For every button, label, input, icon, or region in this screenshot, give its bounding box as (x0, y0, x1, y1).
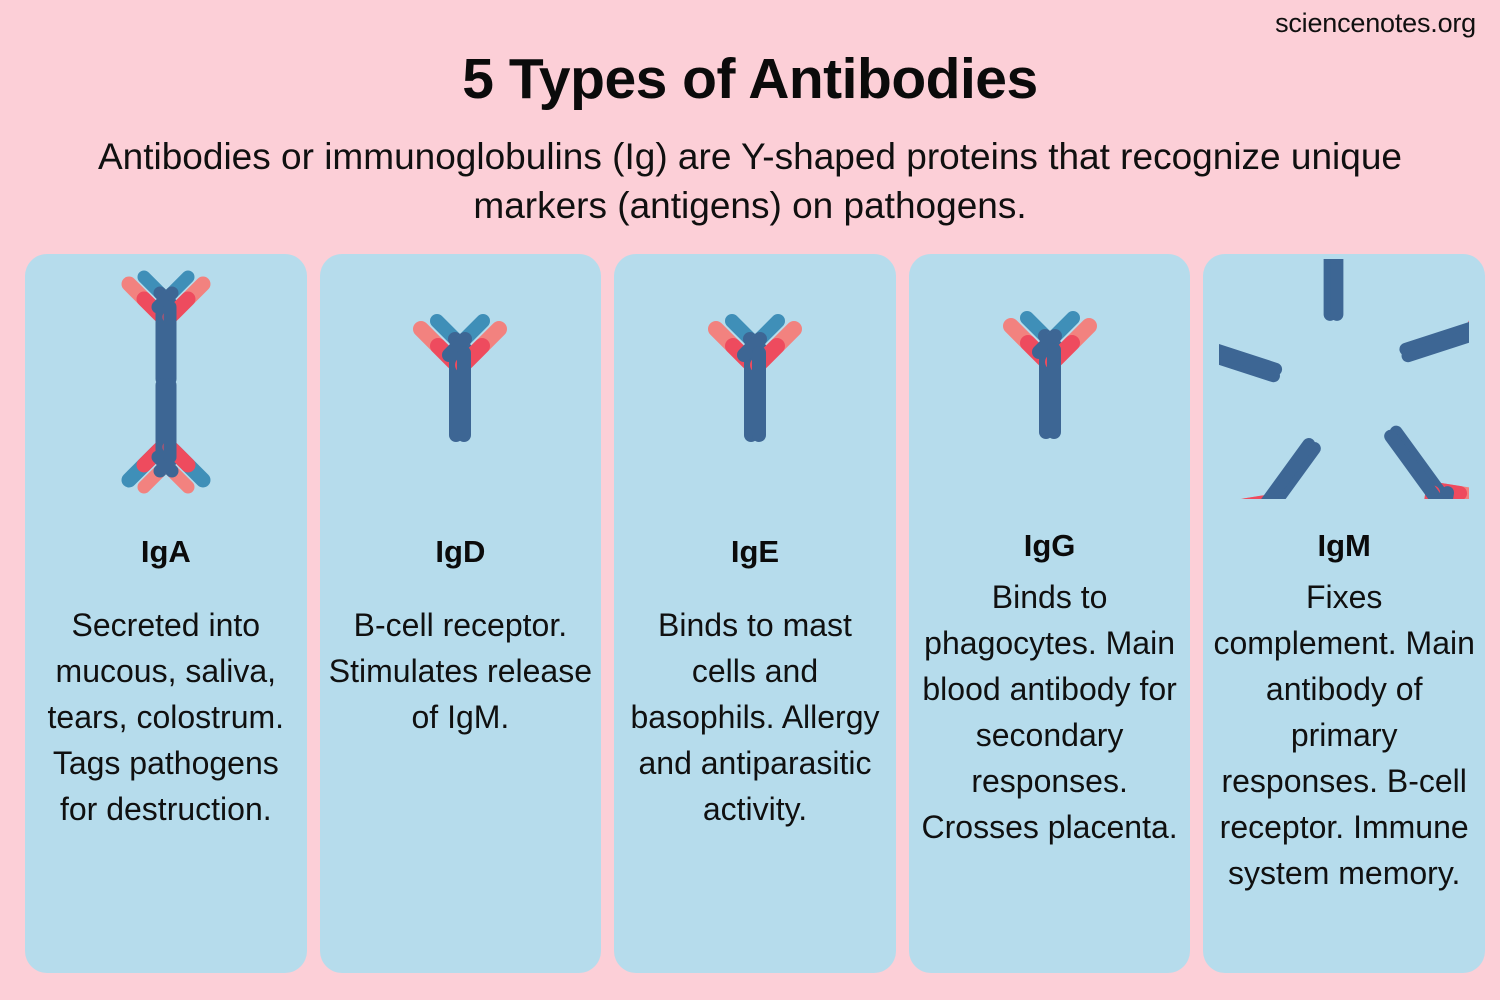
antibody-dimer-icon (25, 254, 307, 510)
antibody-monomer-icon (909, 254, 1191, 504)
antibody-description: Secreted into mucous, saliva, tears, col… (25, 602, 307, 832)
antibody-card-igg[interactable]: IgG Binds to phagocytes. Main blood anti… (909, 254, 1191, 973)
antibody-card-list: IgA Secreted into mucous, saliva, tears,… (25, 254, 1485, 973)
antibody-description: Fixes complement. Main antibody of prima… (1203, 574, 1485, 897)
antibody-card-igd[interactable]: IgD B-cell receptor. Stimulates release … (320, 254, 602, 973)
antibody-card-ige[interactable]: IgE Binds to mast cells and basophils. A… (614, 254, 896, 973)
antibody-description: B-cell receptor. Stimulates release of I… (320, 602, 602, 740)
infographic-page: sciencenotes.org 5 Types of Antibodies A… (0, 0, 1500, 1000)
page-subtitle: Antibodies or immunoglobulins (Ig) are Y… (80, 132, 1420, 230)
antibody-monomer-icon (320, 254, 602, 510)
antibody-label: IgD (435, 534, 485, 570)
antibody-pentamer-icon (1203, 254, 1485, 504)
antibody-label: IgA (141, 534, 191, 570)
antibody-monomer-icon (614, 254, 896, 510)
antibody-description: Binds to phagocytes. Main blood antibody… (909, 574, 1191, 850)
site-credit: sciencenotes.org (1275, 8, 1476, 39)
antibody-description: Binds to mast cells and basophils. Aller… (614, 602, 896, 832)
antibody-label: IgG (1024, 528, 1076, 564)
antibody-card-iga[interactable]: IgA Secreted into mucous, saliva, tears,… (25, 254, 307, 973)
antibody-card-igm[interactable]: IgM Fixes complement. Main antibody of p… (1203, 254, 1485, 973)
page-title: 5 Types of Antibodies (0, 46, 1500, 112)
antibody-label: IgM (1317, 528, 1370, 564)
antibody-label: IgE (731, 534, 779, 570)
